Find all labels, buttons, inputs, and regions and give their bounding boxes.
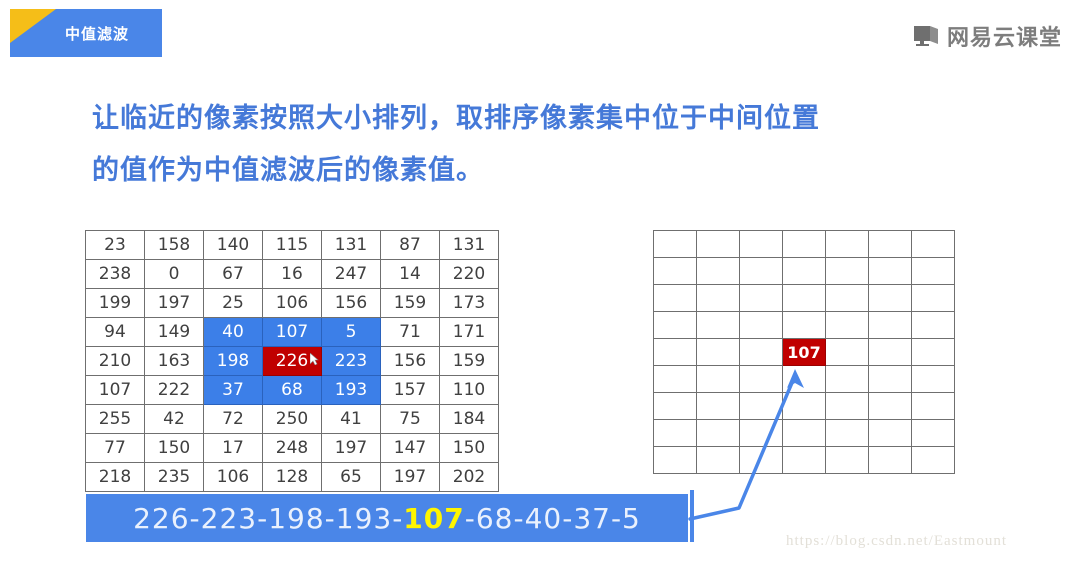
matrix-cell: 248	[263, 434, 322, 463]
matrix-cell: 197	[381, 463, 440, 492]
matrix-row: 2380671624714220	[86, 260, 499, 289]
book-screen-icon	[913, 25, 939, 47]
output-cell	[869, 366, 912, 393]
matrix-cell: 131	[440, 231, 499, 260]
matrix-cell: 72	[204, 405, 263, 434]
output-cell	[826, 420, 869, 447]
output-cell	[654, 231, 697, 258]
output-cell	[783, 312, 826, 339]
matrix-cell: 247	[322, 260, 381, 289]
matrix-cell: 71	[381, 318, 440, 347]
output-grid-row	[654, 231, 955, 258]
slide-title-text: 中值滤波	[10, 9, 162, 57]
output-grid-row	[654, 285, 955, 312]
output-cell	[697, 339, 740, 366]
output-cell	[869, 258, 912, 285]
output-cell	[654, 447, 697, 474]
matrix-cell: 197	[322, 434, 381, 463]
matrix-cell: 94	[86, 318, 145, 347]
output-cell	[654, 285, 697, 312]
matrix-cell: 197	[145, 289, 204, 318]
output-cell	[740, 285, 783, 312]
matrix-cell: 17	[204, 434, 263, 463]
matrix-cell: 106	[263, 289, 322, 318]
output-cell	[912, 447, 955, 474]
matrix-cell: 128	[263, 463, 322, 492]
output-grid-row	[654, 312, 955, 339]
matrix-cell-selected: 68	[263, 376, 322, 405]
output-cell	[740, 258, 783, 285]
matrix-cell: 106	[204, 463, 263, 492]
output-grid-row	[654, 420, 955, 447]
output-cell	[869, 285, 912, 312]
output-cell	[697, 285, 740, 312]
output-cell	[740, 231, 783, 258]
matrix-cell: 131	[322, 231, 381, 260]
output-pixel-grid: 107	[653, 230, 955, 474]
output-grid-row	[654, 366, 955, 393]
output-cell	[740, 393, 783, 420]
matrix-cell: 23	[86, 231, 145, 260]
output-cell	[826, 258, 869, 285]
matrix-cell: 42	[145, 405, 204, 434]
output-cell	[912, 285, 955, 312]
matrix-cell: 158	[145, 231, 204, 260]
matrix-cell: 199	[86, 289, 145, 318]
output-cell	[912, 366, 955, 393]
matrix-cell: 0	[145, 260, 204, 289]
sequence-prefix: 226-223-198-193-	[133, 502, 403, 535]
matrix-cell: 235	[145, 463, 204, 492]
output-grid-body: 107	[654, 231, 955, 474]
output-cell	[654, 312, 697, 339]
output-cell	[869, 312, 912, 339]
output-cell	[740, 447, 783, 474]
matrix-cell: 202	[440, 463, 499, 492]
output-cell	[697, 258, 740, 285]
matrix-cell: 41	[322, 405, 381, 434]
matrix-body: 2315814011513187131238067162471422019919…	[86, 231, 499, 492]
output-cell	[869, 231, 912, 258]
matrix-row: 2315814011513187131	[86, 231, 499, 260]
sequence-suffix: -68-40-37-5	[465, 502, 641, 535]
matrix-row: 7715017248197147150	[86, 434, 499, 463]
output-cell	[783, 366, 826, 393]
output-cell	[869, 339, 912, 366]
output-cell	[697, 393, 740, 420]
output-cell	[740, 312, 783, 339]
output-cell	[697, 447, 740, 474]
output-grid-row	[654, 258, 955, 285]
watermark-url: https://blog.csdn.net/Eastmount	[786, 533, 1007, 550]
output-cell	[869, 393, 912, 420]
output-cell	[826, 285, 869, 312]
output-cell	[654, 420, 697, 447]
output-cell	[826, 447, 869, 474]
matrix-cell: 67	[204, 260, 263, 289]
matrix-cell: 147	[381, 434, 440, 463]
matrix-cell: 210	[86, 347, 145, 376]
output-cell	[783, 231, 826, 258]
matrix-cell: 150	[145, 434, 204, 463]
matrix-cell: 173	[440, 289, 499, 318]
output-cell	[826, 366, 869, 393]
matrix-cell: 222	[145, 376, 204, 405]
matrix-row: 9414940107571171	[86, 318, 499, 347]
output-cell	[697, 420, 740, 447]
matrix-cell: 159	[440, 347, 499, 376]
banner-right-edge	[690, 490, 694, 542]
matrix-cell: 87	[381, 231, 440, 260]
output-cell	[783, 393, 826, 420]
matrix-row: 210163198226223156159	[86, 347, 499, 376]
output-cell	[869, 447, 912, 474]
matrix-cell: 250	[263, 405, 322, 434]
matrix-cell-selected: 223	[322, 347, 381, 376]
headline-line-2: 的值作为中值滤波后的像素值。	[92, 144, 972, 196]
matrix-cell-selected: 40	[204, 318, 263, 347]
matrix-cell-selected: 107	[263, 318, 322, 347]
matrix-cell: 171	[440, 318, 499, 347]
output-cell	[654, 393, 697, 420]
mouse-pointer-icon	[310, 353, 319, 365]
output-cell	[912, 312, 955, 339]
output-cell	[826, 231, 869, 258]
matrix-row: 1072223768193157110	[86, 376, 499, 405]
output-cell	[826, 393, 869, 420]
matrix-cell: 14	[381, 260, 440, 289]
matrix-cell: 115	[263, 231, 322, 260]
matrix-cell-median: 226	[263, 347, 322, 376]
matrix-cell: 140	[204, 231, 263, 260]
matrix-row: 21823510612865197202	[86, 463, 499, 492]
matrix-cell: 218	[86, 463, 145, 492]
output-cell	[912, 339, 955, 366]
output-cell	[740, 339, 783, 366]
headline-block: 让临近的像素按照大小排列，取排序像素集中位于中间位置 的值作为中值滤波后的像素值…	[92, 92, 972, 196]
matrix-cell: 156	[381, 347, 440, 376]
output-cell-median: 107	[783, 339, 826, 366]
matrix-row: 19919725106156159173	[86, 289, 499, 318]
output-cell	[783, 447, 826, 474]
output-cell	[912, 231, 955, 258]
output-cell	[697, 366, 740, 393]
matrix-cell-selected: 193	[322, 376, 381, 405]
output-cell	[869, 420, 912, 447]
output-grid-row: 107	[654, 339, 955, 366]
matrix-cell: 107	[86, 376, 145, 405]
matrix-cell: 220	[440, 260, 499, 289]
matrix-cell: 255	[86, 405, 145, 434]
output-cell	[783, 258, 826, 285]
output-grid-row	[654, 393, 955, 420]
output-cell	[654, 258, 697, 285]
output-cell	[912, 420, 955, 447]
brand-logo: 网易云课堂	[913, 20, 1062, 52]
matrix-cell: 163	[145, 347, 204, 376]
matrix-cell-selected: 37	[204, 376, 263, 405]
matrix-cell: 75	[381, 405, 440, 434]
sequence-median-value: 107	[403, 502, 464, 535]
headline-line-1: 让临近的像素按照大小排列，取排序像素集中位于中间位置	[92, 92, 972, 144]
matrix-cell: 159	[381, 289, 440, 318]
matrix-cell: 156	[322, 289, 381, 318]
output-cell	[654, 366, 697, 393]
source-pixel-matrix: 2315814011513187131238067162471422019919…	[85, 230, 499, 492]
output-cell	[654, 339, 697, 366]
output-cell	[697, 312, 740, 339]
output-grid-row	[654, 447, 955, 474]
output-cell	[826, 312, 869, 339]
matrix-cell: 238	[86, 260, 145, 289]
matrix-cell-selected: 5	[322, 318, 381, 347]
matrix-cell: 65	[322, 463, 381, 492]
matrix-cell: 150	[440, 434, 499, 463]
output-cell	[826, 339, 869, 366]
output-cell	[783, 420, 826, 447]
brand-name: 网易云课堂	[947, 20, 1062, 52]
output-cell	[912, 258, 955, 285]
matrix-cell: 110	[440, 376, 499, 405]
output-cell	[740, 420, 783, 447]
matrix-cell: 149	[145, 318, 204, 347]
slide-title-badge: 中值滤波	[10, 9, 162, 57]
output-cell	[783, 285, 826, 312]
sorted-sequence-banner: 226-223-198-193-107-68-40-37-5	[86, 494, 688, 542]
output-cell	[912, 393, 955, 420]
matrix-cell: 184	[440, 405, 499, 434]
matrix-cell-selected: 198	[204, 347, 263, 376]
matrix-row: 25542722504175184	[86, 405, 499, 434]
matrix-cell: 25	[204, 289, 263, 318]
output-cell	[697, 231, 740, 258]
output-cell	[740, 366, 783, 393]
matrix-cell: 157	[381, 376, 440, 405]
matrix-cell: 77	[86, 434, 145, 463]
matrix-cell: 16	[263, 260, 322, 289]
